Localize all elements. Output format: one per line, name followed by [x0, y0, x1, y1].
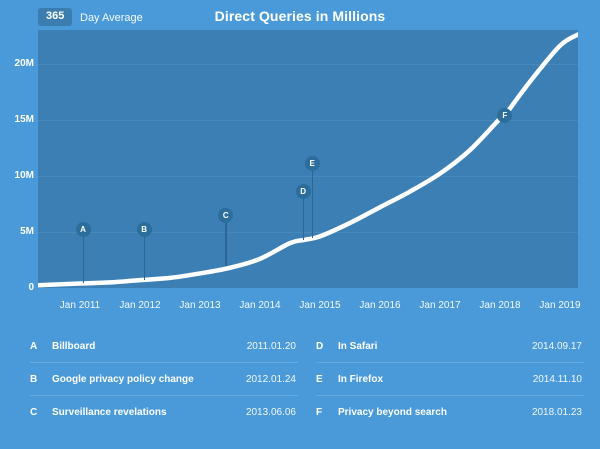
marker-stem [144, 230, 146, 280]
legend-key: D [316, 341, 338, 352]
legend-row[interactable]: BGoogle privacy policy change2012.01.24 [30, 362, 298, 395]
annotation-legend: ABillboard2011.01.20BGoogle privacy poli… [0, 330, 600, 449]
gridline-15M [38, 120, 578, 121]
legend-key: B [30, 374, 52, 385]
marker-dot-label: B [137, 222, 152, 237]
y-tick-label: 10M [15, 171, 34, 181]
legend-key: F [316, 407, 338, 418]
y-tick-label: 5M [20, 227, 34, 237]
legend-key: E [316, 374, 338, 385]
legend-key: C [30, 407, 52, 418]
page-title: Direct Queries in Millions [0, 8, 600, 24]
marker-dot-label: E [305, 156, 320, 171]
legend-row[interactable]: EIn Firefox2014.11.10 [316, 362, 584, 395]
legend-label: In Firefox [338, 374, 533, 385]
legend-date: 2014.11.10 [533, 374, 584, 385]
legend-label: Billboard [52, 341, 247, 352]
legend-label: Google privacy policy change [52, 374, 246, 385]
y-tick-label: 0 [28, 283, 34, 293]
marker-dot-label: F [497, 108, 512, 123]
legend-column-left: ABillboard2011.01.20BGoogle privacy poli… [30, 330, 298, 428]
x-tick-label: Jan 2014 [239, 300, 280, 311]
marker-dot-label: C [218, 208, 233, 223]
x-tick-label: Jan 2012 [119, 300, 160, 311]
marker-stem [312, 163, 314, 238]
marker-stem [83, 230, 85, 284]
x-tick-label: Jan 2017 [419, 300, 460, 311]
legend-label: Privacy beyond search [338, 407, 532, 418]
chart-plot-area: ABCDEF [38, 30, 578, 288]
chart-header: 365 Day Average Direct Queries in Millio… [0, 0, 600, 30]
gridline-20M [38, 64, 578, 65]
legend-row[interactable]: DIn Safari2014.09.17 [316, 330, 584, 362]
x-tick-label: Jan 2015 [299, 300, 340, 311]
x-axis: Jan 2011Jan 2012Jan 2013Jan 2014Jan 2015… [38, 300, 578, 318]
y-tick-label: 15M [15, 115, 34, 125]
legend-date: 2013.06.06 [246, 407, 298, 418]
legend-key: A [30, 341, 52, 352]
legend-date: 2014.09.17 [532, 341, 584, 352]
gridline-5M [38, 232, 578, 233]
legend-row[interactable]: ABillboard2011.01.20 [30, 330, 298, 362]
x-tick-label: Jan 2011 [60, 300, 100, 311]
legend-date: 2012.01.24 [246, 374, 298, 385]
x-tick-label: Jan 2018 [479, 300, 520, 311]
legend-date: 2018.01.23 [532, 407, 584, 418]
x-tick-label: Jan 2016 [359, 300, 400, 311]
gridline-10M [38, 176, 578, 177]
legend-row[interactable]: FPrivacy beyond search2018.01.23 [316, 395, 584, 428]
legend-column-right: DIn Safari2014.09.17EIn Firefox2014.11.1… [316, 330, 584, 428]
x-tick-label: Jan 2013 [179, 300, 220, 311]
marker-dot-label: A [76, 222, 91, 237]
x-tick-label: Jan 2019 [539, 300, 580, 311]
legend-label: Surveillance revelations [52, 407, 246, 418]
marker-dot-label: D [296, 184, 311, 199]
legend-label: In Safari [338, 341, 532, 352]
legend-date: 2011.01.20 [247, 341, 298, 352]
marker-stem [225, 215, 227, 266]
y-tick-label: 20M [15, 59, 34, 69]
legend-row[interactable]: CSurveillance revelations2013.06.06 [30, 395, 298, 428]
y-axis: 05M10M15M20M [0, 30, 34, 288]
